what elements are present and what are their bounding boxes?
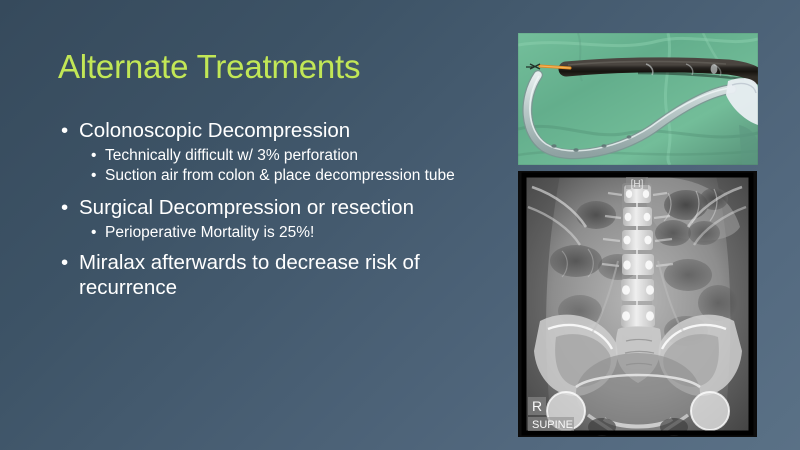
bullet-level1-label: Miralax afterwards to decrease risk of r… [79, 251, 420, 299]
svg-text:SUPINE: SUPINE [532, 419, 573, 431]
abdominal-xray-graphic: [H] R SUPINE [518, 171, 757, 437]
bullet-level2-label: Technically difficult w/ 3% perforation [105, 147, 358, 164]
bullet-level2: • Perioperative Mortality is 25%! [58, 223, 498, 243]
xray-position-marker: SUPINE [528, 417, 574, 431]
bullet-group: • Miralax afterwards to decrease risk of… [58, 250, 498, 300]
page-title: Alternate Treatments [58, 47, 360, 87]
bullet-level2: • Technically difficult w/ 3% perforatio… [58, 146, 498, 166]
bullet-dot-icon: • [91, 146, 96, 166]
bullet-group: • Surgical Decompression or resection • … [58, 195, 498, 243]
colonoscope-photo-graphic [518, 33, 758, 165]
bullet-level1-label: Surgical Decompression or resection [79, 196, 414, 219]
bullet-dot-icon: • [61, 195, 68, 220]
colonoscope-photo [518, 33, 758, 165]
svg-text:R: R [532, 398, 542, 414]
bullet-level1: • Colonoscopic Decompression [58, 118, 498, 143]
xray-side-marker: R [528, 397, 546, 415]
bullet-group: • Colonoscopic Decompression • Technical… [58, 118, 498, 186]
bullet-dot-icon: • [91, 223, 96, 243]
bullet-level2: • Suction air from colon & place decompr… [58, 166, 498, 186]
presentation-slide: Alternate Treatments • Colonoscopic Deco… [0, 0, 800, 450]
bullet-level1: • Surgical Decompression or resection [58, 195, 498, 220]
bullet-dot-icon: • [91, 166, 96, 186]
bullet-level1: • Miralax afterwards to decrease risk of… [58, 250, 498, 300]
abdominal-xray-image: [H] R SUPINE [518, 171, 757, 437]
bullet-dot-icon: • [61, 250, 68, 275]
bullet-level2-label: Perioperative Mortality is 25%! [105, 224, 314, 241]
bullet-level1-label: Colonoscopic Decompression [79, 119, 350, 142]
bullet-list: • Colonoscopic Decompression • Technical… [58, 118, 498, 309]
xray-head-marker: [H] [626, 177, 648, 190]
bullet-level2-label: Suction air from colon & place decompres… [105, 167, 455, 184]
bullet-dot-icon: • [61, 118, 68, 143]
svg-text:[H]: [H] [631, 179, 644, 190]
